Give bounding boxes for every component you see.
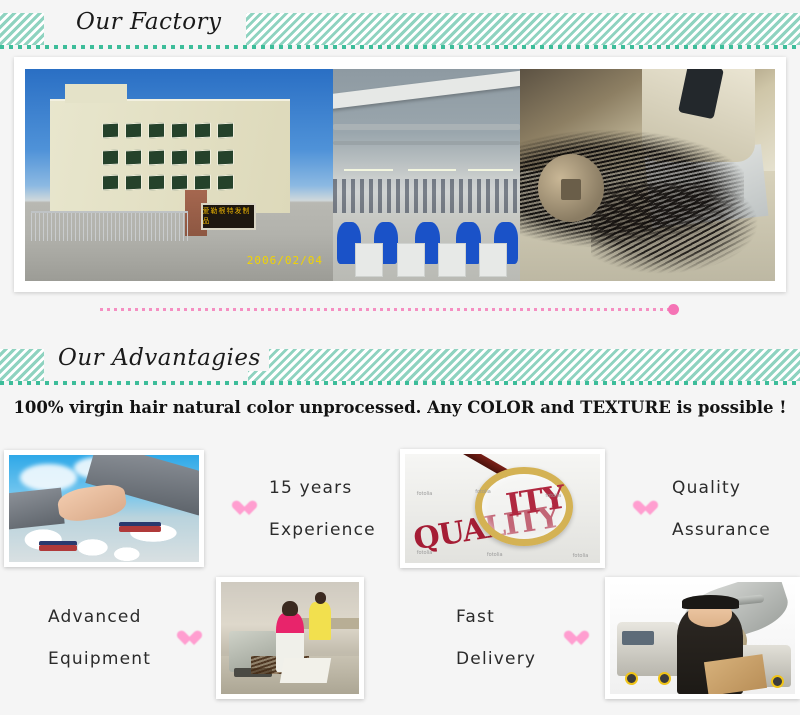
dashed-divider-teal — [0, 45, 800, 49]
advantage-item-experience[interactable]: 15 years Experience — [0, 446, 400, 571]
delivery-logistics-photo — [605, 577, 800, 699]
white-cloth — [280, 658, 331, 683]
cargo-ship — [39, 545, 77, 551]
signboard-text: 爱勒根特发制品 — [203, 206, 254, 226]
pink-dot-marker — [668, 304, 679, 315]
hair-weft-bundle — [591, 183, 770, 281]
heart-icon — [232, 501, 249, 516]
ceiling-duct — [333, 141, 520, 145]
window-row — [50, 150, 290, 165]
factory-photo-strip: 爱勒根特发制品 2006/02/04 — [25, 69, 775, 281]
advantage-line-2: Experience — [269, 509, 376, 551]
window-row — [50, 175, 290, 190]
stripe-decoration-right — [248, 349, 800, 381]
photo-date-stamp: 2006/02/04 — [247, 254, 323, 267]
factory-building-photo: 爱勒根特发制品 2006/02/04 — [25, 69, 333, 281]
worker-figure — [309, 602, 331, 640]
watermark-text: fotolia — [417, 491, 433, 497]
retractable-gate — [31, 211, 188, 241]
advantage-item-delivery[interactable]: Fast Delivery — [400, 573, 800, 703]
cargo-ship — [119, 526, 161, 532]
ceiling-duct — [333, 124, 520, 130]
watermark-text: fotolia — [487, 552, 503, 558]
advantage-item-equipment[interactable]: Advanced Equipment — [0, 573, 400, 703]
work-station — [355, 243, 383, 277]
watermark-text: fotolia — [417, 550, 433, 556]
section-header-advantages: Our Advantagies — [0, 336, 800, 384]
work-station — [438, 243, 466, 277]
heart-icon — [633, 501, 650, 516]
building-facade — [50, 99, 290, 213]
advantage-line-1: Fast — [456, 596, 536, 638]
ceiling-lamp — [408, 169, 457, 171]
building-rooftop — [65, 84, 127, 103]
advantage-item-quality[interactable]: QUALITY ITY fotolia fotolia fotolia foto… — [400, 446, 800, 571]
company-signboard: 爱勒根特发制品 — [201, 203, 256, 231]
factory-floor-photo — [333, 69, 520, 281]
ceiling-lamp — [344, 169, 393, 171]
stripe-decoration-right — [246, 13, 800, 45]
pink-dotted-divider — [100, 308, 680, 311]
page-title-factory: Our Factory — [68, 9, 230, 35]
watermark-text: fotolia — [545, 493, 561, 499]
truck-graphic — [617, 622, 680, 676]
heart-icon — [564, 631, 581, 646]
advantage-line-2: Assurance — [672, 509, 771, 551]
advantage-line-2: Equipment — [48, 638, 151, 680]
parcel-box — [704, 654, 767, 694]
advantage-line-1: Advanced — [48, 596, 151, 638]
quality-magnifier-photo: QUALITY ITY fotolia fotolia fotolia foto… — [400, 449, 605, 568]
wheel-shape — [658, 672, 671, 685]
advantages-grid: 15 years Experience QUALITY ITY fotolia … — [0, 438, 800, 715]
cap-icon — [682, 595, 739, 608]
sewing-machine-hair-photo — [520, 69, 775, 281]
spool-core — [561, 179, 581, 200]
stripe-decoration-left — [0, 13, 44, 45]
watermark-text: fotolia — [573, 553, 589, 559]
handshake-world-map-photo — [4, 450, 204, 567]
window-row — [50, 123, 290, 138]
workshop-sewing-photo — [216, 577, 364, 699]
advantage-line-2: Delivery — [456, 638, 536, 680]
watermark-text: fotolia — [475, 489, 491, 495]
ceiling-lamp — [468, 169, 513, 171]
advantages-tagline: 100% virgin hair natural color unprocess… — [0, 398, 800, 417]
work-station — [479, 243, 507, 277]
page-title-advantages: Our Advantagies — [50, 345, 269, 371]
worker-crowd — [333, 179, 520, 213]
work-station — [397, 243, 425, 277]
section-header-factory: Our Factory — [0, 0, 800, 48]
dashed-divider-teal — [0, 381, 800, 385]
wheel-shape — [625, 672, 638, 685]
advantage-line-1: Quality — [672, 467, 771, 509]
advantage-line-1: 15 years — [269, 467, 376, 509]
heart-icon — [177, 631, 194, 646]
stripe-decoration-left — [0, 349, 44, 381]
suit-sleeve-left — [9, 488, 64, 531]
factory-photo-panel: 爱勒根特发制品 2006/02/04 — [14, 57, 786, 292]
